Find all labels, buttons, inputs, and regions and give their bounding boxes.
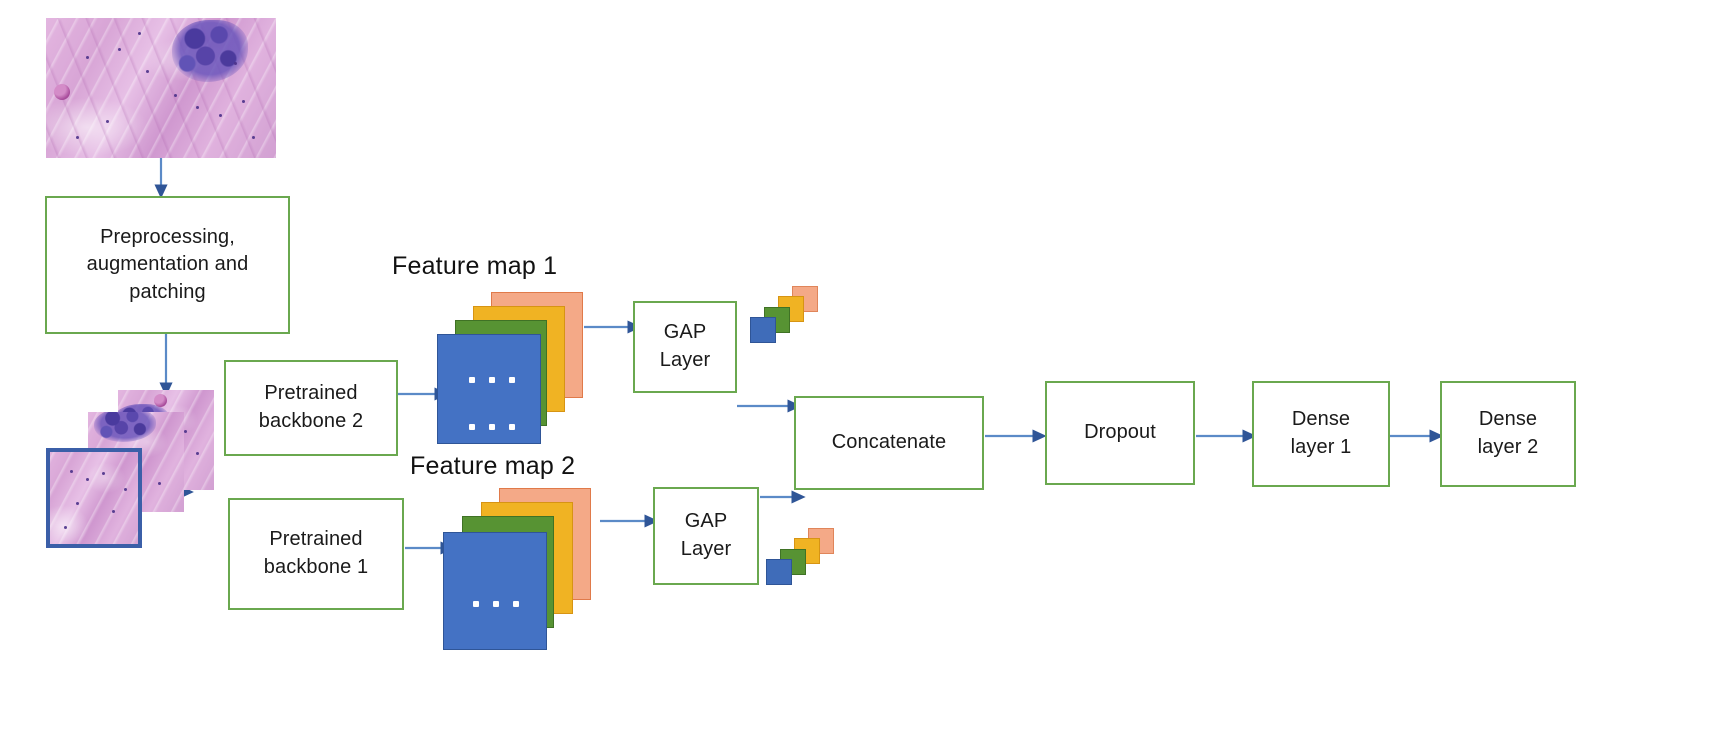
nucleus-dot bbox=[106, 120, 109, 123]
pretrained-backbone-1-box[interactable]: Pretrained backbone 1 bbox=[228, 498, 404, 610]
vacuole bbox=[54, 84, 70, 100]
feature-map-2-label: Feature map 2 bbox=[410, 452, 575, 481]
nucleus-dot bbox=[252, 136, 255, 139]
feature-map-2-stack bbox=[443, 488, 613, 658]
ellipsis-dot bbox=[489, 424, 495, 430]
vacuole bbox=[154, 394, 167, 407]
ellipsis-dot bbox=[509, 377, 515, 383]
gap-layer-2-box[interactable]: GAP Layer bbox=[653, 487, 759, 585]
ellipsis-dot bbox=[469, 424, 475, 430]
feature-map-1-stack bbox=[437, 292, 597, 452]
gap-layer-1-output-squares bbox=[750, 286, 830, 348]
ellipsis-dot bbox=[493, 601, 499, 607]
gap-layer-1-box[interactable]: GAP Layer bbox=[633, 301, 737, 393]
nucleus-dot bbox=[158, 482, 161, 485]
feature-map-sheet-blue bbox=[443, 532, 547, 650]
patch-selection-border bbox=[46, 448, 142, 548]
nucleus-dot bbox=[196, 106, 199, 109]
ellipsis-dot bbox=[509, 424, 515, 430]
nucleus-dot bbox=[174, 94, 177, 97]
pretrained-backbone-2-box[interactable]: Pretrained backbone 2 bbox=[224, 360, 398, 456]
nucleus-dot bbox=[219, 114, 222, 117]
nucleus-dot bbox=[184, 430, 187, 433]
dense-layer-1-box[interactable]: Dense layer 1 bbox=[1252, 381, 1390, 487]
ellipsis-dot bbox=[513, 601, 519, 607]
gap-output-square-blue bbox=[766, 559, 792, 585]
whole-slide-image bbox=[46, 18, 276, 158]
feature-map-ellipsis-top bbox=[469, 377, 515, 383]
nucleus-dot bbox=[86, 56, 89, 59]
dense-layer-2-box[interactable]: Dense layer 2 bbox=[1440, 381, 1576, 487]
feature-map-1-label: Feature map 1 bbox=[392, 252, 557, 281]
nucleus-dot bbox=[234, 62, 237, 65]
concatenate-box[interactable]: Concatenate bbox=[794, 396, 984, 490]
nucleus-dot bbox=[146, 70, 149, 73]
dropout-box[interactable]: Dropout bbox=[1045, 381, 1195, 485]
feature-map-ellipsis-bottom bbox=[469, 424, 515, 430]
nucleus-dot bbox=[196, 452, 199, 455]
nucleus-dot bbox=[242, 100, 245, 103]
diagram-canvas: Preprocessing, augmentation and patching… bbox=[0, 0, 1730, 748]
nucleus-dot bbox=[138, 32, 141, 35]
gap-layer-2-output-squares bbox=[766, 528, 846, 590]
feature-map-ellipsis bbox=[473, 601, 519, 607]
ellipsis-dot bbox=[473, 601, 479, 607]
ellipsis-dot bbox=[489, 377, 495, 383]
nucleus-dot bbox=[76, 136, 79, 139]
nucleus-dot bbox=[118, 48, 121, 51]
ellipsis-dot bbox=[469, 377, 475, 383]
gap-output-square-blue bbox=[750, 317, 776, 343]
preprocessing-box[interactable]: Preprocessing, augmentation and patching bbox=[45, 196, 290, 334]
